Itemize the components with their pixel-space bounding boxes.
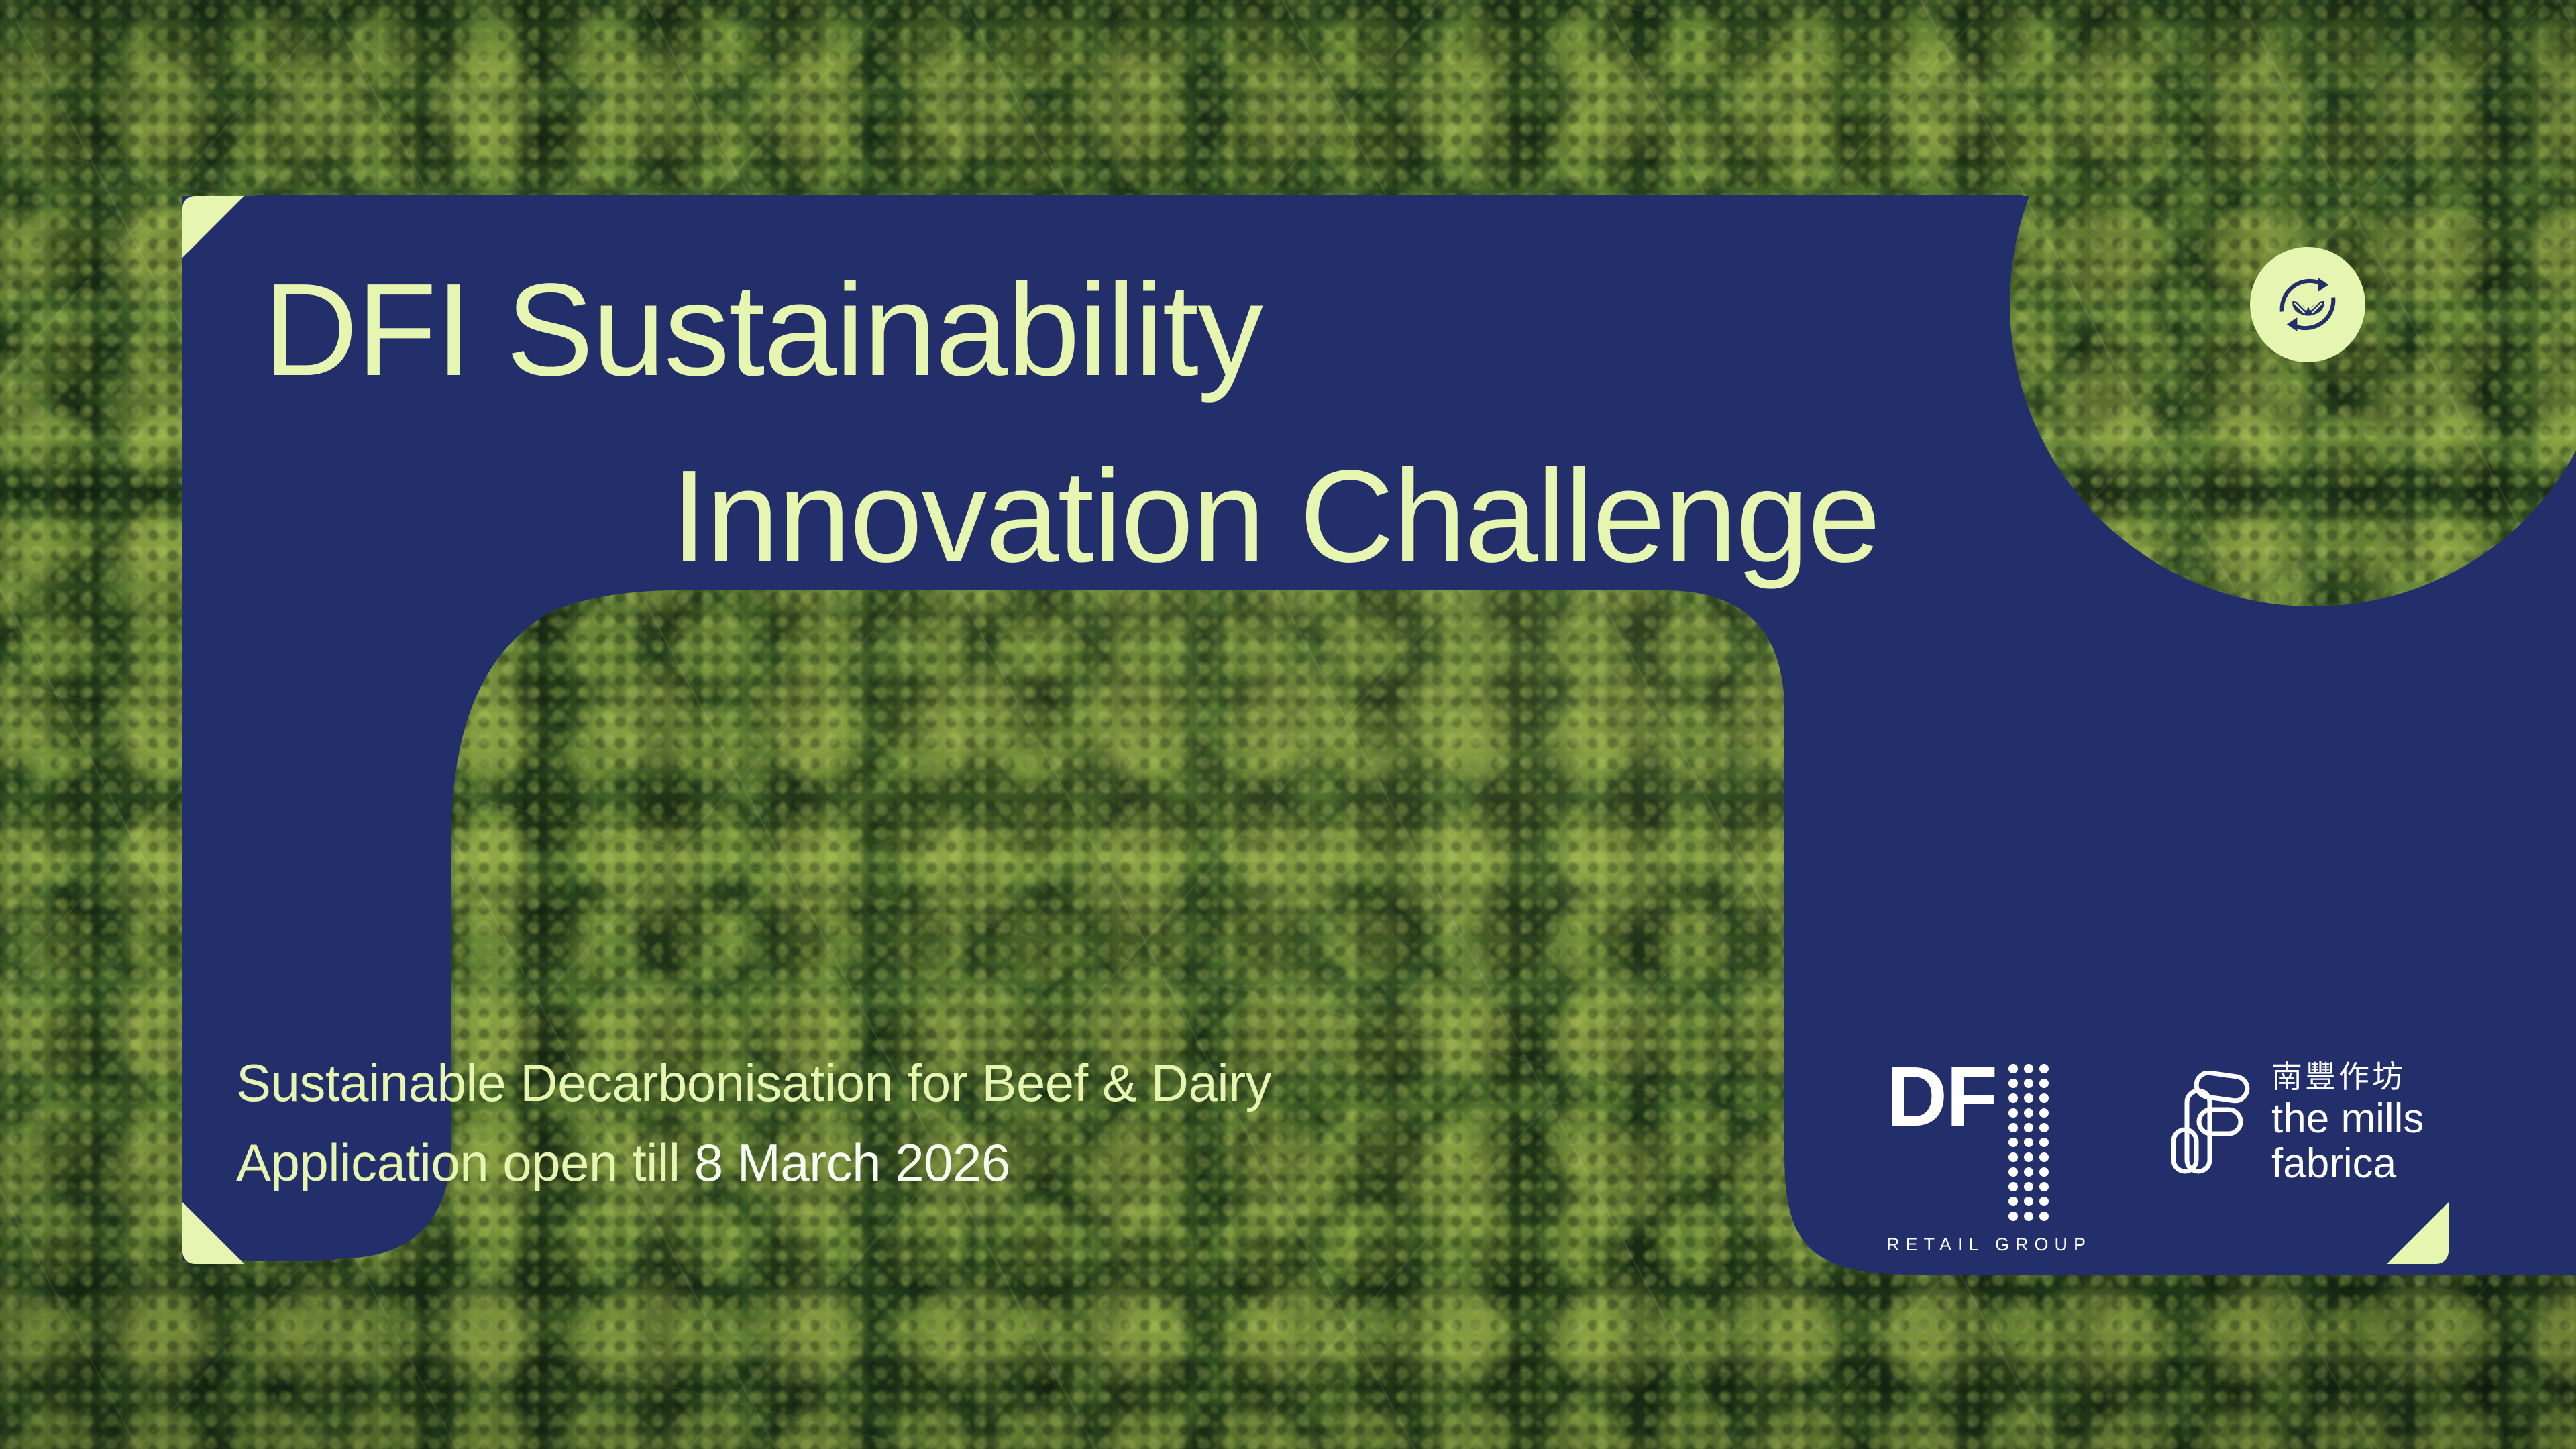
dfi-dot [2008, 1152, 2018, 1162]
mills-fabrica-chinese-name: 南豐作坊 [2271, 1060, 2406, 1094]
dfi-tagline: RETAIL GROUP [1886, 1234, 2092, 1255]
subtitle-block: Sustainable Decarbonisation for Beef & D… [236, 1043, 1271, 1202]
dfi-dot [2039, 1138, 2049, 1147]
dfi-dot [2024, 1108, 2033, 1118]
dfi-dot [2024, 1152, 2033, 1162]
mills-fabrica-english-line-2: fabrica [2271, 1142, 2396, 1187]
deadline-date: 8 March 2026 [694, 1133, 1010, 1192]
dfi-dot [2008, 1138, 2018, 1147]
dfi-dot [2008, 1108, 2018, 1118]
dfi-dot [2008, 1123, 2018, 1132]
subtitle-theme: Sustainable Decarbonisation for Beef & D… [236, 1043, 1271, 1123]
subtitle-deadline: Application open till 8 March 2026 [236, 1123, 1271, 1203]
mills-fabrica-wordmark: 南豐作坊 the mills fabrica [2271, 1060, 2424, 1187]
dfi-dot [2008, 1212, 2018, 1221]
dfi-dot [2024, 1093, 2033, 1103]
dfi-dot [2024, 1167, 2033, 1177]
dfi-dot [2024, 1212, 2033, 1221]
dfi-dot [2024, 1079, 2033, 1088]
dfi-dot [2039, 1152, 2049, 1162]
page-title: DFI Sustainability Innovation Challenge [0, 262, 2388, 585]
dfi-dot [2039, 1079, 2049, 1088]
dfi-dot [2039, 1064, 2049, 1073]
dfi-dot [2024, 1064, 2033, 1073]
mills-fabrica-logo: 南豐作坊 the mills fabrica [2169, 1060, 2424, 1187]
dfi-dot [2024, 1182, 2033, 1191]
dfi-dot [2039, 1212, 2049, 1221]
dfi-dot [2008, 1093, 2018, 1103]
dfi-dot [2039, 1123, 2049, 1132]
dfi-logomark: DF [1886, 1060, 2049, 1221]
dfi-dot [2039, 1108, 2049, 1118]
dfi-retail-group-logo: DF RETAIL GROUP [1886, 1060, 2092, 1255]
deadline-prefix: Application open till [236, 1133, 694, 1192]
dfi-dot [2024, 1197, 2033, 1206]
dfi-dot [2039, 1182, 2049, 1191]
dfi-dot [2008, 1182, 2018, 1191]
dfi-dot [2008, 1064, 2018, 1073]
title-line-1: DFI Sustainability [0, 262, 2388, 398]
dfi-dot [2008, 1079, 2018, 1088]
dfi-letters: DF [1886, 1060, 1996, 1134]
dfi-dot [2024, 1138, 2033, 1147]
dfi-dot [2039, 1093, 2049, 1103]
dfi-dot [2008, 1197, 2018, 1206]
dfi-dot-grid-icon [2008, 1064, 2049, 1221]
dfi-dot [2039, 1167, 2049, 1177]
dfi-dot [2024, 1123, 2033, 1132]
title-line-2: Innovation Challenge [0, 448, 2388, 585]
dfi-dot [2039, 1197, 2049, 1206]
mills-fabrica-english-line-1: the mills [2271, 1097, 2424, 1142]
mills-fabrica-f-mark-icon [2169, 1071, 2251, 1175]
logo-row: DF RETAIL GROUP [1886, 1060, 2424, 1255]
dfi-dot [2008, 1167, 2018, 1177]
hero-banner: DFI Sustainability Innovation Challenge … [0, 0, 2576, 1449]
